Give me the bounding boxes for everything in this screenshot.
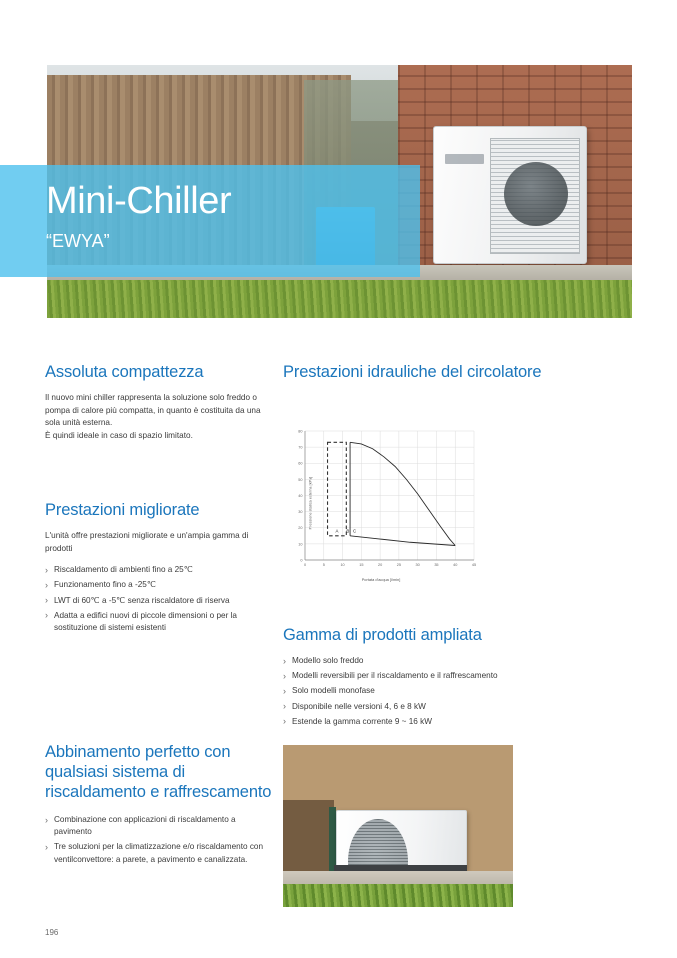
photo-heat-pump-unit (336, 810, 467, 870)
section-body: L'unità offre prestazioni migliorate e u… (45, 530, 273, 555)
svg-text:0: 0 (304, 563, 306, 567)
section-heading: Abbinamento perfetto con qualsiasi siste… (45, 742, 273, 802)
svg-text:45: 45 (472, 563, 476, 567)
list-item: Combinazione con applicazioni di riscald… (45, 814, 273, 838)
svg-text:20: 20 (298, 526, 302, 530)
list-item: Riscaldamento di ambienti fino a 25℃ (45, 564, 273, 576)
list-item: Estende la gamma corrente 9 ~ 16 kW (283, 716, 553, 728)
bullet-list: Combinazione con applicazioni di riscald… (45, 814, 273, 866)
svg-text:20: 20 (378, 563, 382, 567)
list-item: Funzionamento fino a -25℃ (45, 579, 273, 591)
list-item: Disponibile nelle versioni 4, 6 e 8 kW (283, 701, 553, 713)
product-photo (283, 745, 513, 907)
list-item: Solo modelli monofase (283, 685, 553, 697)
svg-text:50: 50 (298, 478, 302, 482)
svg-text:35: 35 (434, 563, 438, 567)
hero-grass (47, 280, 632, 318)
photo-grass (283, 884, 513, 907)
section-assoluta-compattezza: Assoluta compattezza Il nuovo mini chill… (45, 362, 273, 442)
svg-text:15: 15 (359, 563, 363, 567)
svg-text:30: 30 (298, 510, 302, 514)
unit-fan (504, 162, 568, 226)
svg-text:30: 30 (416, 563, 420, 567)
hero-heat-pump-unit (433, 126, 587, 265)
svg-text:10: 10 (298, 542, 302, 546)
svg-text:60: 60 (298, 462, 302, 466)
section-gamma-prodotti: Gamma di prodotti ampliata Modello solo … (283, 625, 553, 731)
list-item: Modello solo freddo (283, 655, 553, 667)
page-title: Mini-Chiller (46, 180, 231, 223)
svg-text:A: A (335, 529, 338, 534)
list-item: Tre soluzioni per la climatizzazione e/o… (45, 841, 273, 865)
svg-text:25: 25 (397, 563, 401, 567)
page-number: 196 (45, 928, 58, 937)
pump-performance-chart: Pressione statica esterna [kPa] Portata … (283, 424, 479, 582)
svg-text:0: 0 (300, 558, 302, 562)
unit-base (334, 865, 467, 871)
list-item: LWT di 60℃ a -5℃ senza riscaldatore di r… (45, 595, 273, 607)
section-heading: Prestazioni migliorate (45, 500, 273, 521)
section-body: Il nuovo mini chiller rappresenta la sol… (45, 392, 273, 442)
list-item: Modelli reversibili per il riscaldamento… (283, 670, 553, 682)
svg-text:5: 5 (323, 563, 325, 567)
svg-text:40: 40 (298, 494, 302, 498)
photo-shadow (283, 800, 334, 875)
svg-text:40: 40 (453, 563, 457, 567)
section-heading: Assoluta compattezza (45, 362, 273, 383)
section-prestazioni-idrauliche: Prestazioni idrauliche del circolatore (283, 362, 553, 392)
page-subtitle: “EWYA” (46, 231, 110, 252)
unit-logo (445, 154, 485, 164)
bullet-list: Riscaldamento di ambienti fino a 25℃ Fun… (45, 564, 273, 634)
section-heading: Gamma di prodotti ampliata (283, 625, 553, 646)
title-banner: Mini-Chiller “EWYA” (0, 165, 420, 277)
chart-canvas: 05101520253035404501020304050607080ABC (283, 424, 479, 582)
svg-text:C: C (353, 529, 356, 534)
svg-text:10: 10 (340, 563, 344, 567)
section-abbinamento-perfetto: Abbinamento perfetto con qualsiasi siste… (45, 742, 273, 869)
svg-text:B: B (346, 529, 349, 534)
section-prestazioni-migliorate: Prestazioni migliorate L'unità offre pre… (45, 500, 273, 637)
bullet-list: Modello solo freddo Modelli reversibili … (283, 655, 553, 728)
svg-text:80: 80 (298, 429, 302, 433)
section-heading: Prestazioni idrauliche del circolatore (283, 362, 553, 383)
list-item: Adatta a edifici nuovi di piccole dimens… (45, 610, 273, 634)
svg-text:70: 70 (298, 446, 302, 450)
